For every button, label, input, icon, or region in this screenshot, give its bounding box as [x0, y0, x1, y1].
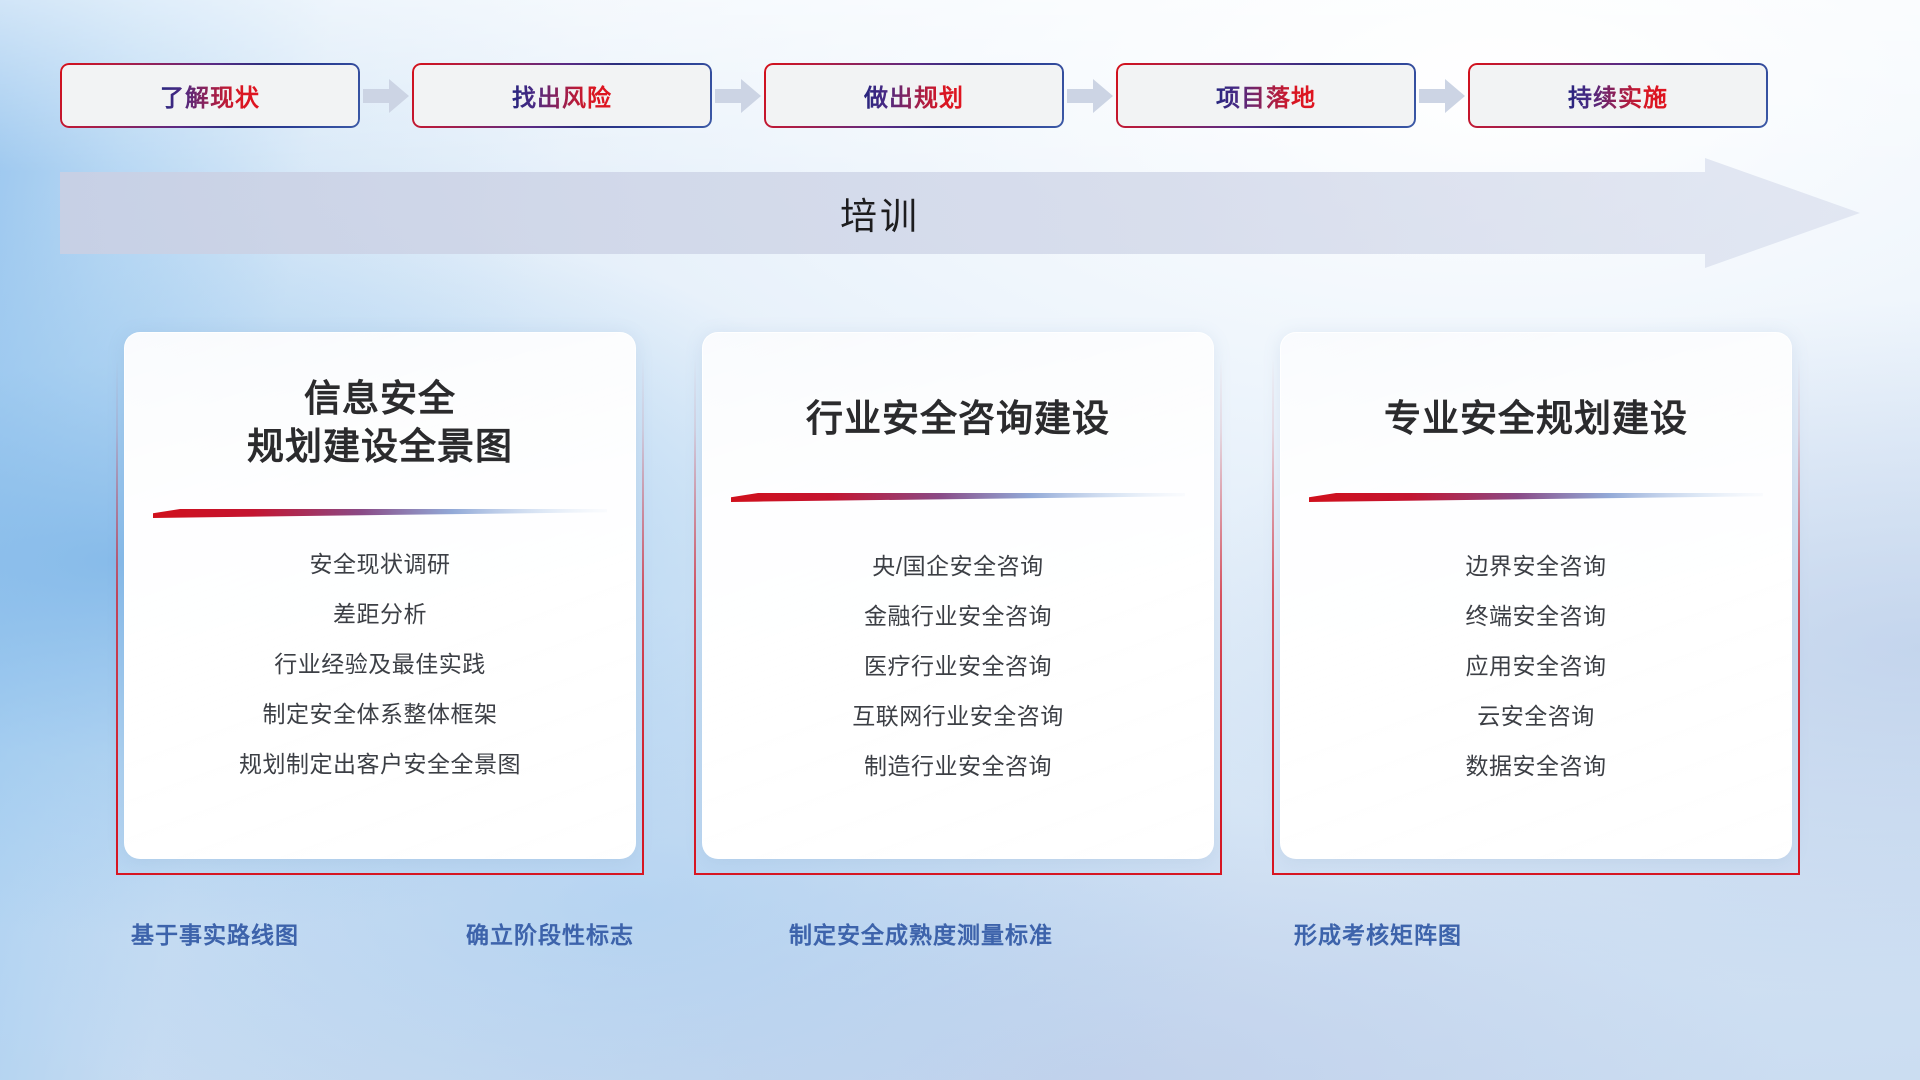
card-accent-line-right: [1220, 358, 1222, 875]
card-accent-line-bottom: [1272, 873, 1800, 875]
step-box-1[interactable]: 了解现状: [60, 63, 360, 128]
card-list-1: 安全现状调研 差距分析 行业经验及最佳实践 制定安全体系整体框架 规划制定出客户…: [125, 553, 635, 803]
step-label-2: 找出风险: [512, 78, 612, 113]
process-step-row: 了解现状 找出风险 做出规划 项目落地 持续实施: [60, 62, 1860, 129]
list-item: 终端安全咨询: [1281, 605, 1791, 628]
list-item: 制造行业安全咨询: [703, 755, 1213, 778]
card-title-line: 行业安全咨询建设: [703, 395, 1213, 443]
arrow-right-icon: [1416, 79, 1468, 113]
list-item: 金融行业安全咨询: [703, 605, 1213, 628]
card-accent-line-left: [694, 358, 696, 875]
card-professional-security-planning[interactable]: 专业安全规划建设: [1280, 332, 1792, 859]
step-box-3[interactable]: 做出规划: [764, 63, 1064, 128]
arrow-right-icon: [360, 79, 412, 113]
bottom-label-3: 制定安全成熟度测量标准: [789, 916, 1053, 950]
list-item: 互联网行业安全咨询: [703, 705, 1213, 728]
banner-title: 培训: [60, 158, 1700, 268]
card-wrapper-1: 信息安全 规划建设全景图: [116, 332, 644, 875]
card-title-line: 规划建设全景图: [125, 423, 635, 471]
bottom-label-row: 基于事实路线图 确立阶段性标志 制定安全成熟度测量标准 形成考核矩阵图: [0, 916, 1920, 960]
card-industry-security-consulting[interactable]: 行业安全咨询建设: [702, 332, 1214, 859]
card-title-1: 信息安全 规划建设全景图: [125, 375, 635, 471]
list-item: 央/国企安全咨询: [703, 555, 1213, 578]
list-item: 安全现状调研: [125, 553, 635, 576]
card-accent-line-right: [642, 358, 644, 875]
card-divider-3: [1309, 493, 1763, 502]
bottom-label-2: 确立阶段性标志: [466, 916, 634, 950]
training-banner: 培训: [60, 158, 1860, 268]
card-title-line: 专业安全规划建设: [1281, 395, 1791, 443]
bottom-label-4: 形成考核矩阵图: [1294, 916, 1462, 950]
step-box-2[interactable]: 找出风险: [412, 63, 712, 128]
cards-row: 信息安全 规划建设全景图: [0, 332, 1920, 872]
card-divider-1: [153, 509, 607, 518]
list-item: 规划制定出客户安全全景图: [125, 753, 635, 776]
step-box-4[interactable]: 项目落地: [1116, 63, 1416, 128]
card-title-2: 行业安全咨询建设: [703, 395, 1213, 443]
card-accent-line-left: [1272, 358, 1274, 875]
list-item: 行业经验及最佳实践: [125, 653, 635, 676]
list-item: 医疗行业安全咨询: [703, 655, 1213, 678]
card-wrapper-3: 专业安全规划建设: [1272, 332, 1800, 875]
list-item: 数据安全咨询: [1281, 755, 1791, 778]
step-label-1: 了解现状: [160, 78, 260, 113]
card-accent-line-bottom: [694, 873, 1222, 875]
list-item: 应用安全咨询: [1281, 655, 1791, 678]
card-list-2: 央/国企安全咨询 金融行业安全咨询 医疗行业安全咨询 互联网行业安全咨询 制造行…: [703, 555, 1213, 805]
arrow-right-icon: [1064, 79, 1116, 113]
bottom-label-1: 基于事实路线图: [131, 916, 299, 950]
card-list-3: 边界安全咨询 终端安全咨询 应用安全咨询 云安全咨询 数据安全咨询: [1281, 555, 1791, 805]
step-label-5: 持续实施: [1568, 78, 1668, 113]
step-label-3: 做出规划: [864, 78, 964, 113]
list-item: 边界安全咨询: [1281, 555, 1791, 578]
card-title-3: 专业安全规划建设: [1281, 395, 1791, 443]
list-item: 差距分析: [125, 603, 635, 626]
step-box-5[interactable]: 持续实施: [1468, 63, 1768, 128]
list-item: 云安全咨询: [1281, 705, 1791, 728]
card-accent-line-left: [116, 358, 118, 875]
card-accent-line-bottom: [116, 873, 644, 875]
step-label-4: 项目落地: [1216, 78, 1316, 113]
card-information-security-blueprint[interactable]: 信息安全 规划建设全景图: [124, 332, 636, 859]
card-divider-2: [731, 493, 1185, 502]
card-wrapper-2: 行业安全咨询建设: [694, 332, 1222, 875]
card-title-line: 信息安全: [125, 375, 635, 423]
arrow-right-icon: [712, 79, 764, 113]
list-item: 制定安全体系整体框架: [125, 703, 635, 726]
card-accent-line-right: [1798, 358, 1800, 875]
